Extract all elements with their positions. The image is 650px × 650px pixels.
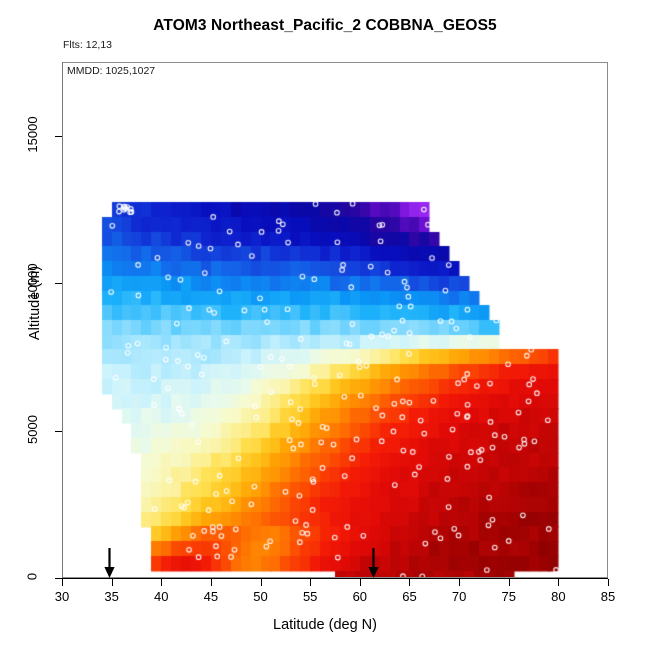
- x-tick: [509, 579, 510, 586]
- x-tick-label: 85: [588, 589, 628, 604]
- y-tick: [55, 431, 62, 432]
- x-tick: [112, 579, 113, 586]
- y-tick: [55, 136, 62, 137]
- y-tick-label: 0: [24, 572, 39, 580]
- x-axis-title: Latitude (deg N): [0, 617, 650, 633]
- x-tick-label: 70: [439, 589, 479, 604]
- x-tick-label: 60: [340, 589, 380, 604]
- y-axis-line: [62, 62, 63, 579]
- arrow-marker-1: [103, 548, 116, 578]
- x-tick-label: 65: [389, 589, 429, 604]
- x-tick: [558, 579, 559, 586]
- x-tick: [161, 579, 162, 586]
- x-tick-label: 80: [538, 589, 578, 604]
- y-tick-label: 15000: [25, 114, 40, 155]
- y-tick: [55, 283, 62, 284]
- curtain-plot-root: ATOM3 Northeast_Pacific_2 COBBNA_GEOS5 F…: [0, 0, 650, 650]
- flights-annotation: Flts: 12,13: [63, 39, 112, 51]
- x-tick: [608, 579, 609, 586]
- x-tick: [261, 579, 262, 586]
- x-tick-label: 40: [141, 589, 181, 604]
- x-tick: [459, 579, 460, 586]
- x-tick-label: 45: [191, 589, 231, 604]
- x-tick-label: 75: [489, 589, 529, 604]
- curtain-heatmap-canvas: [63, 63, 607, 577]
- x-axis-line: [62, 578, 608, 579]
- x-tick: [310, 579, 311, 586]
- x-tick-label: 30: [42, 589, 82, 604]
- x-tick-label: 35: [92, 589, 132, 604]
- x-tick: [360, 579, 361, 586]
- x-tick: [211, 579, 212, 586]
- x-tick: [409, 579, 410, 586]
- x-tick-label: 50: [241, 589, 281, 604]
- page-title: ATOM3 Northeast_Pacific_2 COBBNA_GEOS5: [0, 17, 650, 35]
- arrow-marker-2: [367, 548, 380, 578]
- x-tick: [62, 579, 63, 586]
- y-tick: [55, 578, 62, 579]
- x-tick-label: 55: [290, 589, 330, 604]
- y-axis-title: Altitude (m): [27, 173, 43, 433]
